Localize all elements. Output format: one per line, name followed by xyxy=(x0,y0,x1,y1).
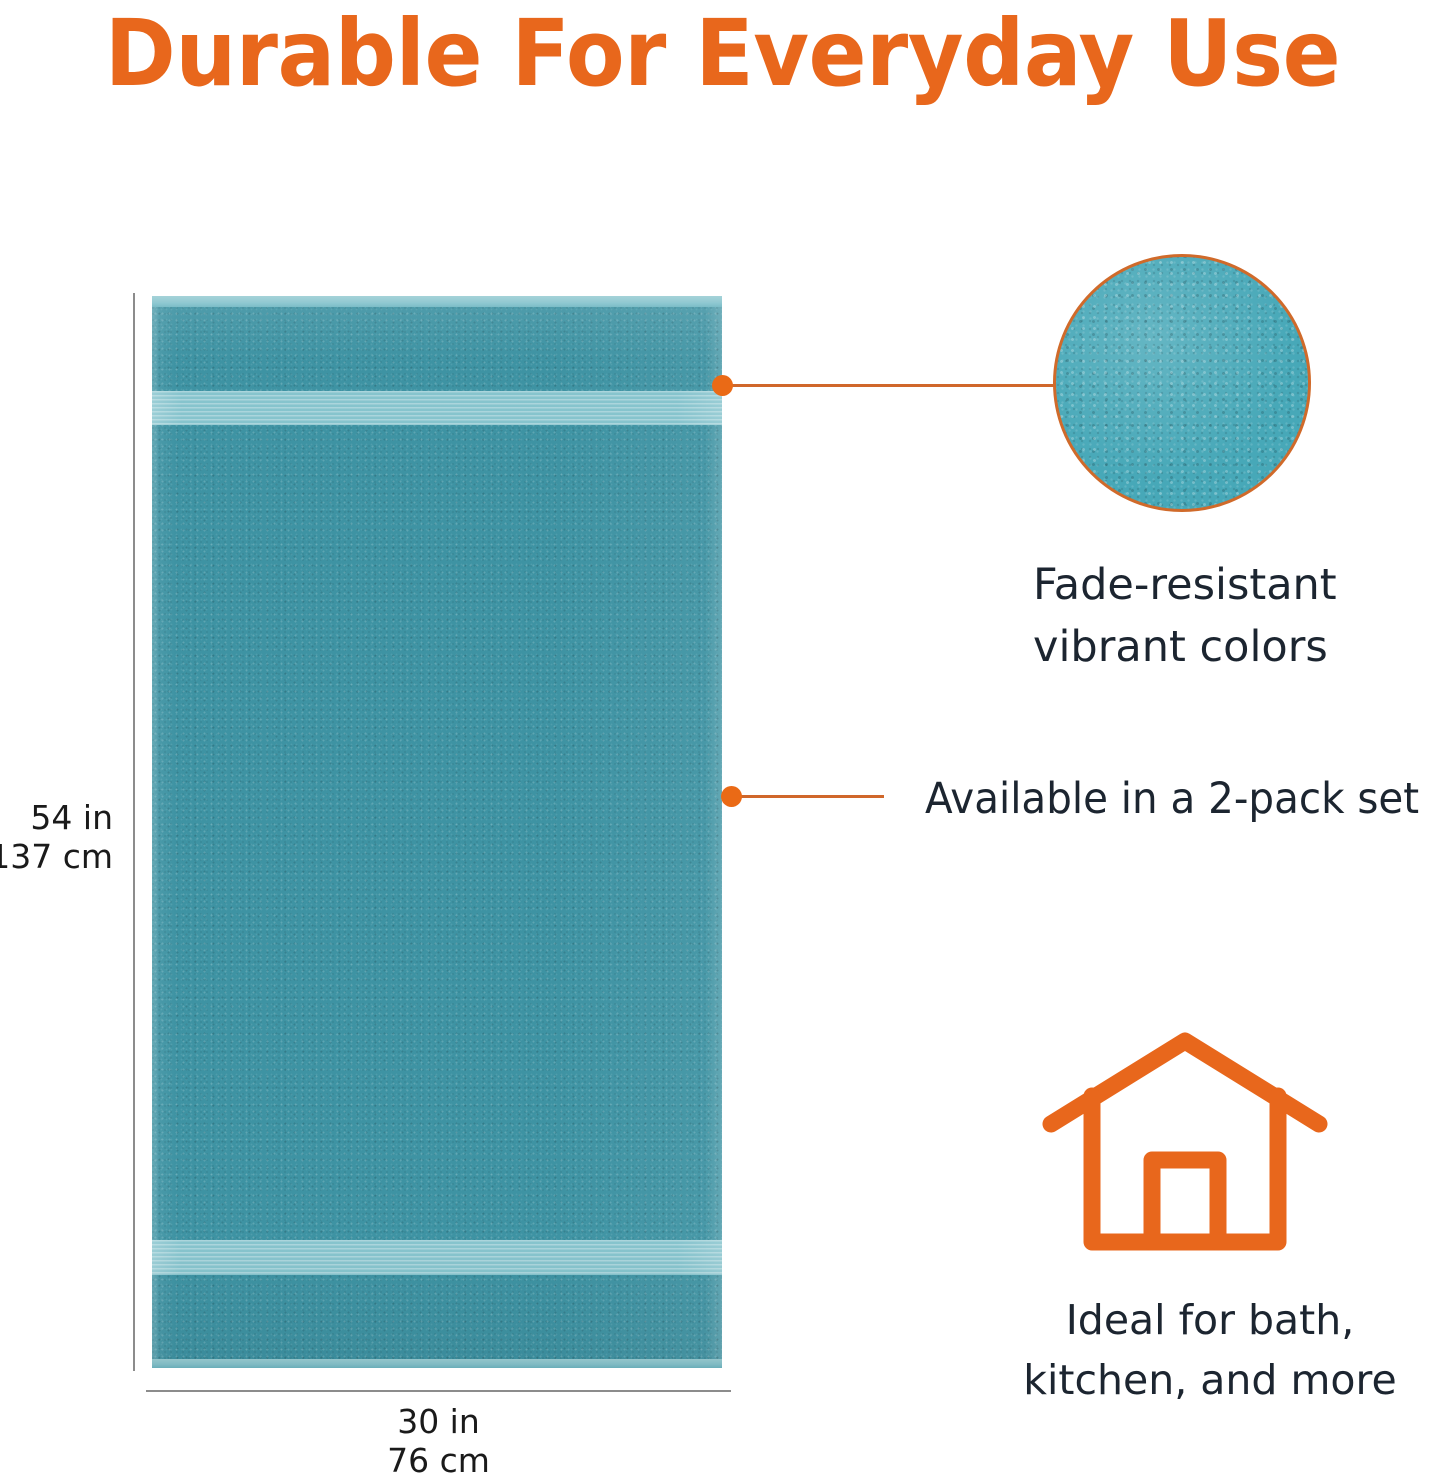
house-icon xyxy=(1040,1028,1330,1278)
feature-fade-resistant-line1: Fade-resistant xyxy=(1033,554,1433,616)
width-dimension-label: 30 in 76 cm xyxy=(146,1402,731,1475)
feature-ideal-use: Ideal for bath, kitchen, and more xyxy=(1000,1290,1420,1410)
height-measurement-line xyxy=(133,293,135,1371)
towel-bottom-border-band xyxy=(152,1240,722,1275)
height-inches: 54 in xyxy=(0,798,113,837)
feature-ideal-use-line1: Ideal for bath, xyxy=(1000,1290,1420,1350)
house-door-icon xyxy=(1152,1160,1218,1242)
towel-top-hem xyxy=(152,296,722,307)
towel-image xyxy=(152,296,722,1368)
width-measurement-line xyxy=(146,1390,731,1392)
infographic-canvas: Durable For Everyday Use 54 in 137 cm 30… xyxy=(0,0,1445,1475)
leader-line-two-pack xyxy=(733,795,884,798)
feature-fade-resistant: Fade-resistant vibrant colors xyxy=(1033,554,1433,678)
house-walls-icon xyxy=(1092,1096,1278,1242)
fabric-detail-texture xyxy=(1056,257,1308,509)
towel-top-border-band xyxy=(152,391,722,425)
leader-dot-two-pack xyxy=(721,786,742,807)
feature-fade-resistant-line2: vibrant colors xyxy=(1033,616,1433,678)
feature-ideal-use-line2: kitchen, and more xyxy=(1000,1350,1420,1410)
page-title: Durable For Everyday Use xyxy=(51,2,1395,107)
height-centimeters: 137 cm xyxy=(0,837,113,876)
leader-dot-fabric-detail xyxy=(712,375,733,396)
width-centimeters: 76 cm xyxy=(146,1441,731,1475)
height-dimension-label: 54 in 137 cm xyxy=(0,798,113,876)
feature-two-pack: Available in a 2-pack set xyxy=(925,773,1419,825)
towel-pile-texture xyxy=(152,296,722,1368)
fabric-detail-zoom-circle xyxy=(1053,254,1311,512)
leader-line-fabric-detail xyxy=(724,384,1055,387)
width-inches: 30 in xyxy=(146,1402,731,1441)
towel-bottom-hem xyxy=(152,1359,722,1368)
